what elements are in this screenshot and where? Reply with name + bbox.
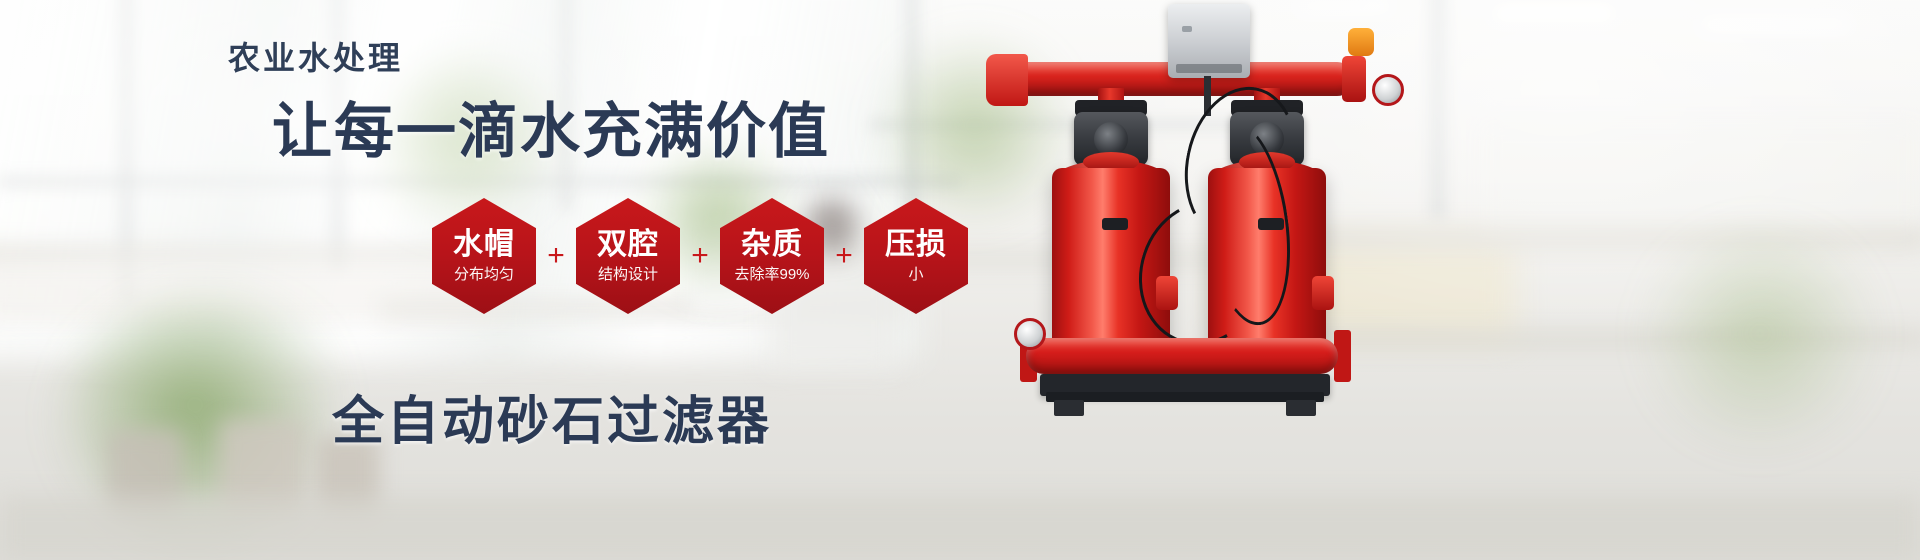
banner-copy: 农业水处理 让每一滴水充满价值 水帽 分布均匀 + 双腔 结构设计 + 杂质 去… — [0, 0, 1000, 560]
skid-foot — [1054, 400, 1084, 416]
feature-badge-title: 水帽 — [453, 230, 515, 260]
air-release-valve — [1348, 28, 1374, 56]
skid-foot — [1286, 400, 1316, 416]
feature-badge-subtitle: 结构设计 — [598, 267, 658, 282]
feature-badge-4: 压损 小 — [864, 198, 968, 314]
feature-badge-2: 双腔 结构设计 — [576, 198, 680, 314]
banner-subline: 全自动砂石过滤器 — [332, 395, 772, 450]
plus-separator-icon: + — [536, 241, 576, 271]
controller-indicator — [1182, 26, 1192, 32]
feature-badge-title: 双腔 — [597, 230, 659, 260]
pressure-gauge — [1014, 318, 1046, 350]
feature-badge-subtitle: 小 — [908, 267, 923, 282]
valve-hub — [1094, 122, 1128, 156]
pressure-gauge — [1372, 74, 1404, 106]
tank-clamp — [1102, 218, 1128, 230]
feature-badge-3: 杂质 去除率99% — [720, 198, 824, 314]
feature-badge-subtitle: 去除率99% — [734, 267, 809, 282]
plus-separator-icon: + — [680, 241, 720, 271]
plus-separator-icon: + — [824, 241, 864, 271]
product-image-sand-gravel-filter — [990, 0, 1460, 560]
banner-eyebrow: 农业水处理 — [228, 42, 403, 74]
feature-badge-title: 压损 — [885, 230, 947, 260]
banner-headline: 让每一滴水充满价值 — [272, 100, 830, 163]
controller-brand-label — [1176, 64, 1242, 73]
end-fitting — [1342, 56, 1366, 102]
promo-banner: 农业水处理 让每一滴水充满价值 水帽 分布均匀 + 双腔 结构设计 + 杂质 去… — [0, 0, 1920, 560]
feature-badge-row: 水帽 分布均匀 + 双腔 结构设计 + 杂质 去除率99% + 压损 小 — [432, 198, 968, 314]
tank-nozzle — [1312, 276, 1334, 310]
feature-badge-title: 杂质 — [741, 230, 803, 260]
feature-badge-1: 水帽 分布均匀 — [432, 198, 536, 314]
bottom-manifold-pipe — [1026, 338, 1338, 374]
base-skid — [1046, 392, 1324, 402]
feature-badge-subtitle: 分布均匀 — [454, 267, 514, 282]
